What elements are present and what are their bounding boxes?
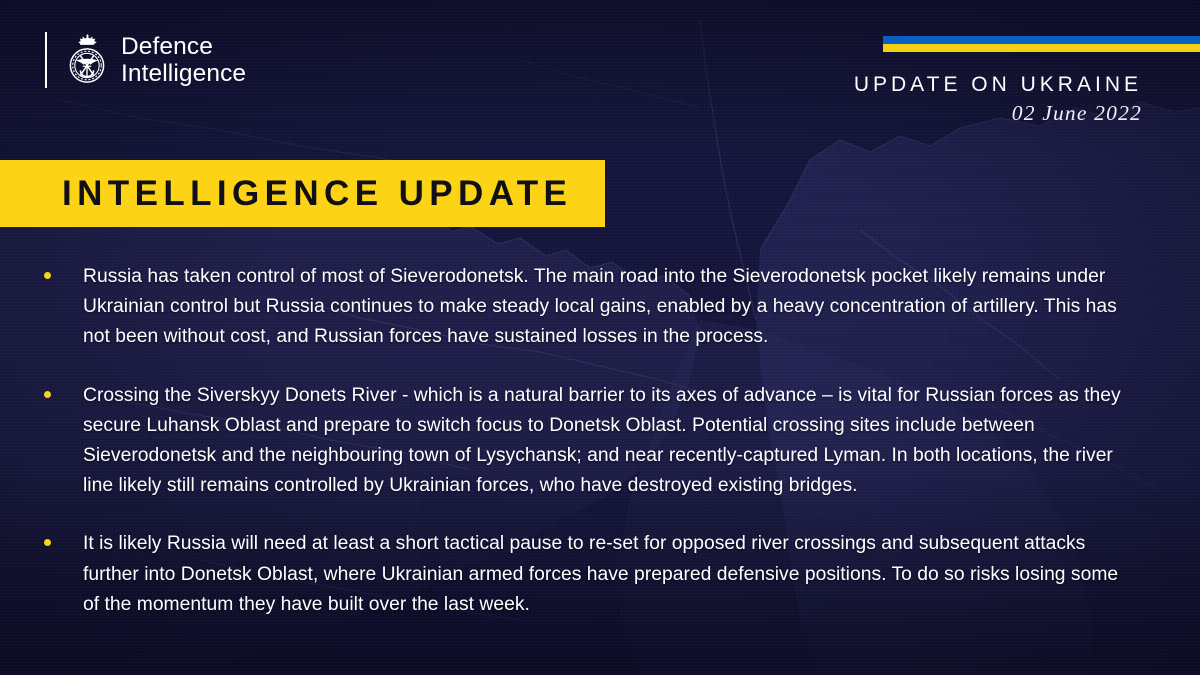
list-item: Crossing the Siverskyy Donets River - wh… (0, 381, 1200, 502)
logo-wordmark: Defence Intelligence (121, 33, 246, 87)
list-item: It is likely Russia will need at least a… (0, 529, 1200, 620)
bullet-text: Crossing the Siverskyy Donets River - wh… (83, 381, 1138, 502)
bullet-dot-icon (40, 529, 83, 620)
logo-line-intelligence: Intelligence (121, 60, 246, 87)
bullet-list: Russia has taken control of most of Siev… (0, 262, 1200, 620)
bullet-text: Russia has taken control of most of Siev… (83, 262, 1138, 353)
list-item: Russia has taken control of most of Siev… (0, 262, 1200, 353)
update-on-ukraine-title: UPDATE ON UKRAINE (854, 71, 1142, 98)
update-date: 02 June 2022 (854, 100, 1142, 126)
intelligence-update-slide: Defence Intelligence UPDATE ON UKRAINE 0… (0, 0, 1200, 675)
logo-divider-rule (45, 32, 47, 88)
ukraine-flag-bar-icon (883, 36, 1200, 52)
bullet-text: It is likely Russia will need at least a… (83, 529, 1138, 620)
flag-stripe-yellow (883, 44, 1200, 52)
defence-intelligence-logo: Defence Intelligence (45, 32, 246, 88)
logo-line-defence: Defence (121, 33, 246, 60)
bullet-dot-icon (40, 262, 83, 353)
banner-title: INTELLIGENCE UPDATE (62, 174, 572, 214)
header-right-block: UPDATE ON UKRAINE 02 June 2022 (854, 71, 1142, 126)
mod-defence-intelligence-crest-icon (64, 32, 110, 88)
flag-stripe-blue (883, 36, 1200, 44)
bullet-dot-icon (40, 381, 83, 502)
intelligence-update-banner: INTELLIGENCE UPDATE (0, 160, 605, 227)
